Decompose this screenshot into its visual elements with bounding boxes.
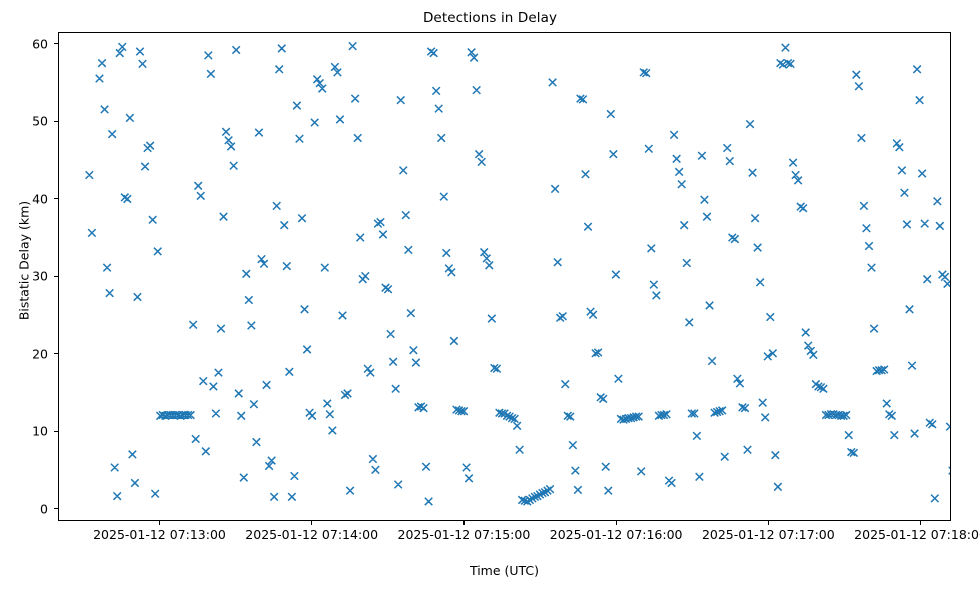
y-tick-mark	[54, 43, 58, 44]
y-tick-mark	[54, 431, 58, 432]
y-tick-label: 60	[4, 36, 48, 51]
y-tick-mark	[54, 121, 58, 122]
scatter-series	[59, 33, 950, 520]
x-axis-label: Time (UTC)	[58, 563, 951, 578]
plot-axes	[58, 32, 951, 521]
x-tick-label: 2025-01-12 07:15:00	[398, 527, 531, 542]
y-tick-label: 50	[4, 114, 48, 129]
x-tick-mark	[616, 521, 617, 525]
matplotlib-figure: Detections in Delay 0102030405060 Time (…	[0, 0, 980, 590]
x-tick-label: 2025-01-12 07:16:00	[550, 527, 683, 542]
y-axis-label: Bistatic Delay (km)	[17, 141, 32, 381]
x-tick-label: 2025-01-12 07:17:00	[702, 527, 835, 542]
y-tick-label: 10	[4, 424, 48, 439]
x-tick-mark	[920, 521, 921, 525]
x-tick-label: 2025-01-12 07:13:00	[93, 527, 226, 542]
data-points	[86, 42, 950, 506]
y-tick-mark	[54, 508, 58, 509]
x-tick-label: 2025-01-12 07:18:00	[854, 527, 980, 542]
y-tick-mark	[54, 198, 58, 199]
x-tick-mark	[159, 521, 160, 525]
y-tick-mark	[54, 353, 58, 354]
y-tick-label: 0	[4, 501, 48, 516]
x-tick-mark	[463, 521, 464, 525]
x-tick-mark	[768, 521, 769, 525]
y-tick-mark	[54, 276, 58, 277]
page-title: Detections in Delay	[0, 10, 980, 26]
x-tick-mark	[311, 521, 312, 525]
x-tick-label: 2025-01-12 07:14:00	[245, 527, 378, 542]
